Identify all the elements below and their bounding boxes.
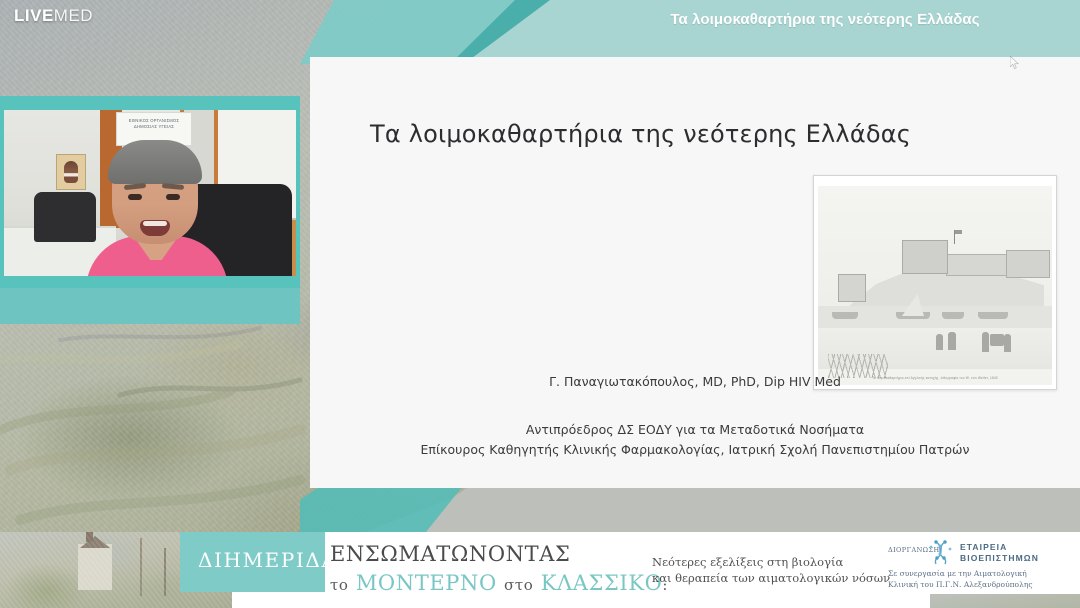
slide-affiliation: Αντιπρόεδρος ΔΣ ΕΟΔΥ για τα Μεταδοτικά Ν… bbox=[310, 420, 1080, 460]
engraving-flag bbox=[954, 230, 955, 244]
engraving-side-tower bbox=[838, 274, 866, 302]
engraving-load bbox=[990, 334, 1004, 346]
banner-subtitle-line1: Νεότερες εξελίξεις στη βιολογία bbox=[652, 554, 890, 570]
logo-med: MED bbox=[54, 6, 93, 25]
engraving-boat-4 bbox=[978, 312, 1008, 319]
banner-headline-mid: στο bbox=[504, 576, 533, 594]
engraving-figure-1 bbox=[936, 334, 943, 350]
dna-helix-icon bbox=[928, 540, 954, 566]
banner-organizer-name-line2: ΒΙΟΕΠΙΣΤΗΜΩΝ bbox=[960, 553, 1039, 564]
slide-surface[interactable]: Τα λοιμοκαθαρτήρια της νεότερης Ελλάδας bbox=[310, 57, 1080, 488]
banner-event-type: ΔΙΗΜΕΡΙΔΑ bbox=[198, 548, 338, 572]
video-speaker bbox=[88, 140, 224, 276]
speaker-hair bbox=[108, 140, 202, 184]
banner-subtitle: Νεότερες εξελίξεις στη βιολογία και θερα… bbox=[652, 554, 890, 586]
presentation-viewer: LIVEMED Τα λοιμοκαθαρτήρια της νεότερης … bbox=[0, 0, 1080, 608]
banner-organizer-name: ΕΤΑΙΡΕΙΑ ΒΙΟΕΠΙΣΤΗΜΩΝ bbox=[960, 542, 1039, 564]
mouse-cursor bbox=[1010, 56, 1020, 69]
slide-image: Το λοιμοκαθαρτήριο επί Αγγλικής κατοχής,… bbox=[813, 175, 1057, 390]
banner-organizer-name-line1: ΕΤΑΙΡΕΙΑ bbox=[960, 542, 1039, 553]
engraving-figure-3 bbox=[982, 332, 989, 352]
banner-right-artwork bbox=[930, 594, 1080, 608]
slide-affiliation-line2: Επίκουρος Καθηγητής Κλινικής Φαρμακολογί… bbox=[310, 440, 1080, 460]
banner-subtitle-line2: και θεραπεία των αιματολογικών νόσων bbox=[652, 570, 890, 586]
engraving-boat-1 bbox=[832, 312, 858, 319]
banner-headline-line2: το ΜΟΝΤΕΡΝΟ στο ΚΛΑΣΣΙΚΟ: bbox=[330, 571, 668, 595]
video-wall-icon bbox=[56, 154, 86, 190]
name-tag-tail bbox=[0, 288, 300, 324]
banner-cooperation-line2: Κλινική του Π.Γ.Ν. Αλεξανδρούπολης bbox=[888, 579, 1033, 590]
webcam-video[interactable]: ΕΘΝΙΚΟΣ ΟΡΓΑΝΙΣΜΟΣ ΔΗΜΟΣΙΑΣ ΥΓΕΙΑΣ bbox=[4, 110, 296, 276]
engraving-figure-2 bbox=[948, 332, 956, 350]
banner-headline-line1: ΕΝΣΩΜΑΤΩΝΟΝΤΑΣ bbox=[330, 542, 570, 566]
banner-cooperation-line1: Σε συνεργασία με την Αιματολογική bbox=[888, 568, 1033, 579]
engraving-figure-4 bbox=[1004, 334, 1011, 352]
livemed-logo: LIVEMED bbox=[14, 6, 93, 26]
banner-event-type-box: ΔΙΗΜΕΡΙΔΑ bbox=[180, 532, 325, 592]
slide-author: Γ. Παναγιωτακόπουλος, MD, PhD, Dip HIV M… bbox=[310, 374, 1080, 389]
video-chair bbox=[34, 192, 96, 242]
speaker-mouth bbox=[140, 220, 170, 236]
engraving-fort-tower bbox=[902, 240, 948, 274]
logo-live: LIVE bbox=[14, 6, 54, 25]
header-bar: Τα λοιμοκαθαρτήρια της νεότερης Ελλάδας bbox=[430, 0, 1080, 38]
speaker-eye-right bbox=[166, 194, 180, 200]
engraving-boat-3 bbox=[942, 312, 964, 319]
banner-headline-classic: ΚΛΑΣΣΙΚΟ bbox=[541, 571, 663, 595]
speaker-eye-left bbox=[128, 194, 142, 200]
engraving: Το λοιμοκαθαρτήριο επί Αγγλικής κατοχής,… bbox=[818, 186, 1052, 385]
banner-cooperation: Σε συνεργασία με την Αιματολογική Κλινικ… bbox=[888, 568, 1033, 590]
event-banner: ΔΙΗΜΕΡΙΔΑ ΕΝΣΩΜΑΤΩΝΟΝΤΑΣ το ΜΟΝΤΕΡΝΟ στο… bbox=[0, 532, 1080, 608]
slide-title: Τα λοιμοκαθαρτήρια της νεότερης Ελλάδας bbox=[370, 120, 970, 148]
banner-headline-prefix: το bbox=[330, 576, 349, 594]
header-title: Τα λοιμοκαθαρτήρια της νεότερης Ελλάδας bbox=[530, 11, 979, 28]
banner-headline-modern: ΜΟΝΤΕΡΝΟ bbox=[356, 571, 497, 595]
engraving-fort-building bbox=[1006, 250, 1050, 278]
slide-affiliation-line1: Αντιπρόεδρος ΔΣ ΕΟΔΥ για τα Μεταδοτικά Ν… bbox=[310, 420, 1080, 440]
